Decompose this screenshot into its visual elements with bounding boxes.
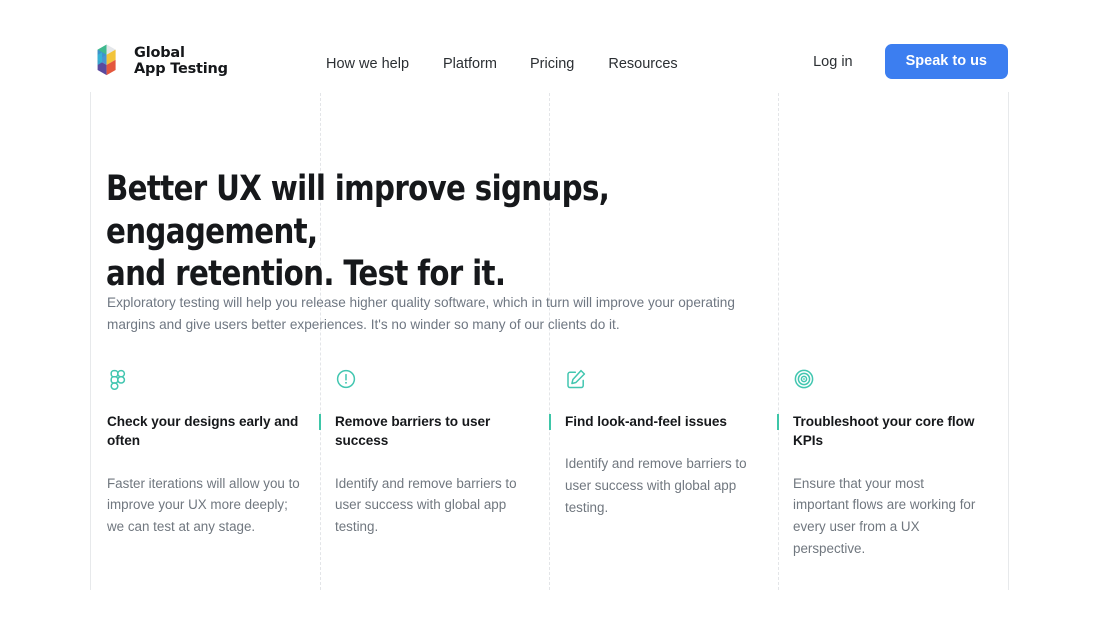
header-actions: Log in Speak to us xyxy=(813,44,1008,79)
feature-body: Ensure that your most important flows ar… xyxy=(793,473,983,560)
site-header: Global App Testing How we help Platform … xyxy=(0,0,1100,92)
accent-bar xyxy=(319,414,321,430)
edit-square-icon xyxy=(565,368,587,390)
feature-heading-row: Check your designs early and often xyxy=(107,412,303,451)
feature-body: Identify and remove barriers to user suc… xyxy=(335,473,525,538)
figma-grid-icon xyxy=(107,368,129,390)
global-app-testing-hexagon-logo xyxy=(89,42,125,80)
brand-name-line-1: Global xyxy=(134,45,228,61)
nav-item-pricing[interactable]: Pricing xyxy=(530,52,574,76)
feature-heading-row: Find look-and-feel issues xyxy=(565,412,763,431)
accent-bar xyxy=(549,414,551,430)
feature-body: Faster iterations will allow you to impr… xyxy=(107,473,303,538)
nav-item-platform[interactable]: Platform xyxy=(443,52,497,76)
headline-line-1: Better UX will improve signups, engageme… xyxy=(106,169,609,252)
nav-item-resources[interactable]: Resources xyxy=(608,52,677,76)
feature-heading-row: Troubleshoot your core flow KPIs xyxy=(793,412,983,451)
accent-bar xyxy=(777,414,779,430)
hero-section: Better UX will improve signups, engageme… xyxy=(0,0,1100,630)
feature-title: Remove barriers to user success xyxy=(335,412,525,451)
feature-column-look-and-feel: Find look-and-feel issues Identify and r… xyxy=(565,368,763,518)
target-bullseye-icon xyxy=(793,368,815,390)
brand-logo[interactable]: Global App Testing xyxy=(89,42,228,80)
feature-column-list: Check your designs early and often Faste… xyxy=(0,368,1100,598)
brand-name-line-2: App Testing xyxy=(134,61,228,77)
feature-column-check-designs: Check your designs early and often Faste… xyxy=(107,368,303,538)
page-root: Global App Testing How we help Platform … xyxy=(0,0,1100,630)
brand-wordmark: Global App Testing xyxy=(134,45,228,77)
feature-title: Find look-and-feel issues xyxy=(565,412,763,431)
speak-to-us-button[interactable]: Speak to us xyxy=(885,44,1008,79)
feature-body: Identify and remove barriers to user suc… xyxy=(565,453,763,518)
hero-subcopy: Exploratory testing will help you releas… xyxy=(107,292,767,336)
page-title: Better UX will improve signups, engageme… xyxy=(106,168,738,296)
feature-title: Troubleshoot your core flow KPIs xyxy=(793,412,983,451)
headline-line-2: and retention. Test for it. xyxy=(106,254,505,294)
feature-column-remove-barriers: Remove barriers to user success Identify… xyxy=(335,368,525,538)
alert-circle-icon xyxy=(335,368,357,390)
nav-item-how-we-help[interactable]: How we help xyxy=(326,52,409,76)
feature-title: Check your designs early and often xyxy=(107,412,303,451)
login-link[interactable]: Log in xyxy=(813,54,853,70)
feature-column-core-flow-kpis: Troubleshoot your core flow KPIs Ensure … xyxy=(793,368,983,559)
feature-heading-row: Remove barriers to user success xyxy=(335,412,525,451)
primary-navigation: How we help Platform Pricing Resources xyxy=(326,52,678,76)
